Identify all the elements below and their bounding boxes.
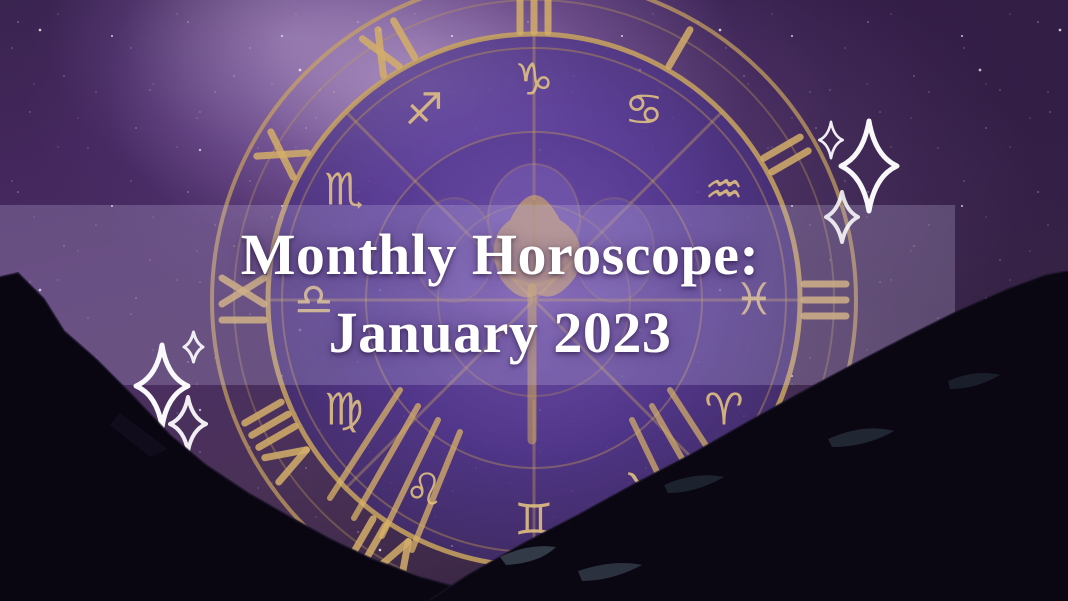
night-sky-background <box>0 0 1068 601</box>
horoscope-banner: ♑ ♋ ♒ ♓ ♈ ♉ ♊ ♌ ♍ ♎ ♏ ♐ <box>0 0 1068 601</box>
